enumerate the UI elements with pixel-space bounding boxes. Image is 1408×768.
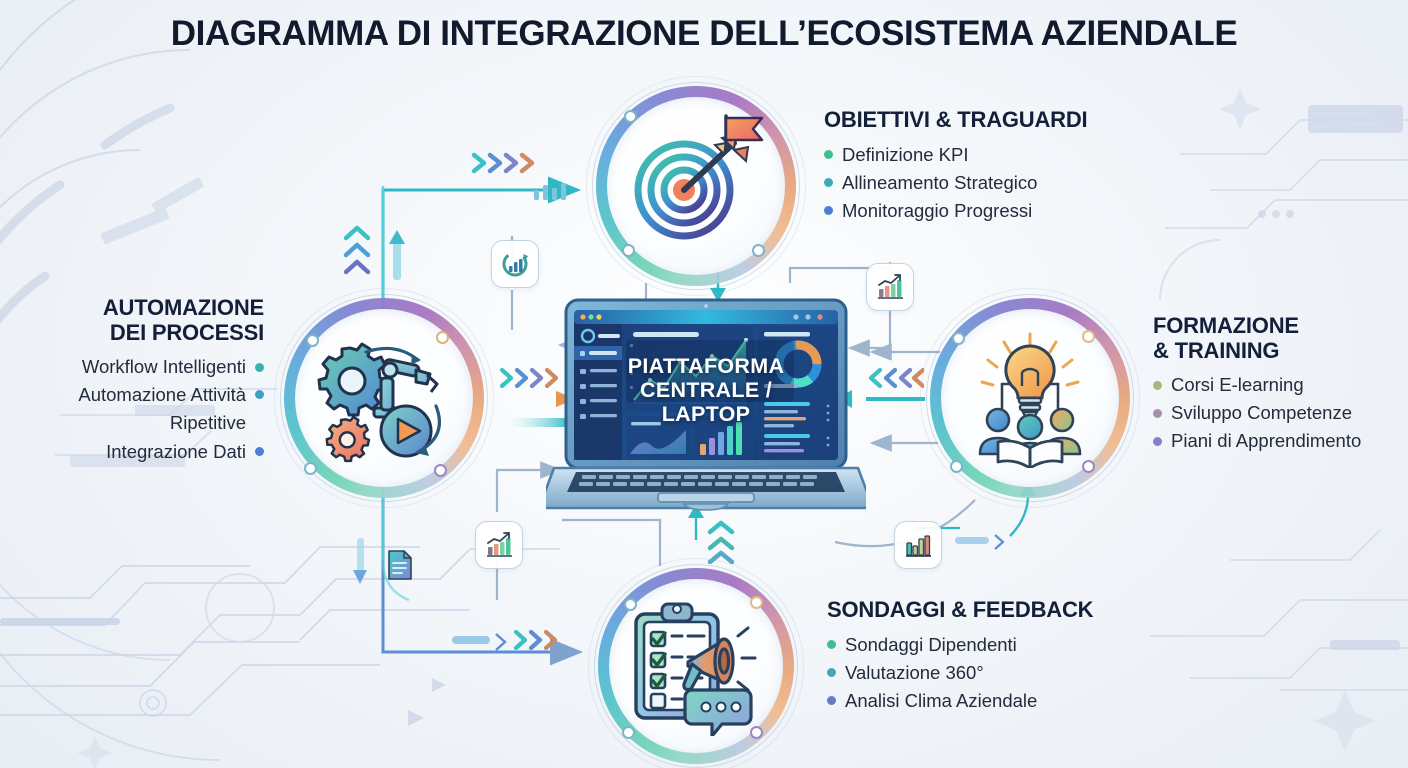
bullet-list-automazione: Workflow Intelligenti Automazione Attivi… [24, 353, 264, 465]
infographic-canvas: DIAGRAMMA DI INTEGRAZIONE DELL’ECOSISTEM… [0, 0, 1408, 768]
bullet-label: Valutazione 360° [845, 659, 984, 687]
list-item: Sviluppo Competenze [1153, 399, 1361, 427]
node-automazione[interactable] [284, 298, 484, 498]
text-block-formazione: FORMAZIONE & TRAINING Corsi E-learning S… [1153, 314, 1361, 456]
bullet-dot [824, 206, 833, 215]
bullet-label: Definizione KPI [842, 141, 968, 169]
bullet-label: Sondaggi Dipendenti [845, 631, 1017, 659]
node-formazione[interactable] [930, 298, 1130, 498]
bullet-list-sondaggi: Sondaggi Dipendenti Valutazione 360° Ana… [827, 631, 1093, 715]
heading-line-1: AUTOMAZIONE [103, 295, 264, 320]
bullet-label: Workflow Intelligenti [82, 353, 246, 381]
badge-bar-chart-right[interactable] [894, 521, 942, 569]
chevrons-right-center [868, 366, 924, 390]
document-icon [387, 549, 413, 581]
lightbulb-people-book-icon [960, 328, 1100, 468]
list-item: Corsi E-learning [1153, 371, 1361, 399]
bullet-dot [827, 640, 836, 649]
vertical-arrow-down [353, 538, 367, 584]
heading-automazione: AUTOMAZIONE DEI PROCESSI [24, 296, 264, 345]
badge-refresh-analytics[interactable] [491, 240, 539, 288]
list-item: Monitoraggio Progressi [824, 197, 1087, 225]
chevrons-up-bottom-center [706, 518, 736, 564]
circuit-traces-bottomleft [0, 547, 560, 715]
list-item: Definizione KPI [824, 141, 1087, 169]
bullet-label: Automazione Attività Ripetitive [24, 381, 246, 437]
node-sondaggi[interactable] [598, 568, 794, 764]
bullet-dot [1153, 437, 1162, 446]
bullet-dot [1153, 381, 1162, 390]
target-arrow-flag-icon [622, 112, 770, 260]
list-item: Workflow Intelligenti [24, 353, 264, 381]
bullet-label: Piani di Apprendimento [1171, 427, 1361, 455]
bullet-dot [827, 696, 836, 705]
badge-growth-chart-left[interactable] [475, 521, 523, 569]
chevrons-top-left [470, 150, 542, 176]
bar-chart-trend-icon [875, 272, 905, 302]
bullet-dot [824, 178, 833, 187]
bullet-label: Sviluppo Competenze [1171, 399, 1352, 427]
heading-line-2: & TRAINING [1153, 338, 1279, 363]
text-block-obiettivi: OBIETTIVI & TRAGUARDI Definizione KPI Al… [824, 108, 1087, 225]
gears-robot-arm-play-icon [312, 326, 456, 470]
badge-growth-chart-top[interactable] [866, 263, 914, 311]
heading-sondaggi: SONDAGGI & FEEDBACK [827, 598, 1093, 623]
bullet-label: Integrazione Dati [106, 438, 246, 466]
heading-obiettivi: OBIETTIVI & TRAGUARDI [824, 108, 1087, 133]
bullet-label: Corsi E-learning [1171, 371, 1304, 399]
bullet-dot [827, 668, 836, 677]
text-block-automazione: AUTOMAZIONE DEI PROCESSI Workflow Intell… [24, 296, 264, 466]
list-item: Integrazione Dati [24, 438, 264, 466]
list-item: Allineamento Strategico [824, 169, 1087, 197]
bullet-list-formazione: Corsi E-learning Sviluppo Competenze Pia… [1153, 371, 1361, 455]
list-item: Piani di Apprendimento [1153, 427, 1361, 455]
node-obiettivi[interactable] [596, 86, 796, 286]
chevrons-bottom-left-flow [512, 628, 560, 652]
chevrons-up-left [342, 222, 372, 282]
heading-line-1: FORMAZIONE [1153, 313, 1299, 338]
bullet-dot [255, 447, 264, 456]
clipboard-megaphone-chat-icon [626, 596, 766, 736]
heading-formazione: FORMAZIONE & TRAINING [1153, 314, 1361, 363]
text-block-sondaggi: SONDAGGI & FEEDBACK Sondaggi Dipendenti … [827, 598, 1093, 715]
heading-line-2: DEI PROCESSI [110, 320, 264, 345]
list-item: Valutazione 360° [827, 659, 1093, 687]
list-item: Automazione Attività Ripetitive [24, 381, 264, 437]
vertical-arrow-up [389, 230, 405, 280]
bullet-label: Allineamento Strategico [842, 169, 1037, 197]
badge-document[interactable] [386, 548, 414, 582]
central-platform-laptop[interactable]: PIATTAFORMA CENTRALE / LAPTOP [546, 296, 866, 524]
list-item: Sondaggi Dipendenti [827, 631, 1093, 659]
bullet-dot [824, 150, 833, 159]
bullet-dot [255, 390, 264, 399]
bullet-label: Analisi Clima Aziendale [845, 687, 1037, 715]
bullet-label: Monitoraggio Progressi [842, 197, 1032, 225]
bullet-dot [1153, 409, 1162, 418]
list-item: Analisi Clima Aziendale [827, 687, 1093, 715]
page-title: DIAGRAMMA DI INTEGRAZIONE DELL’ECOSISTEM… [0, 14, 1408, 54]
bullet-list-obiettivi: Definizione KPI Allineamento Strategico … [824, 141, 1087, 225]
bullet-dot [255, 363, 264, 372]
bar-chart-trend-icon [484, 530, 514, 560]
bar-chart-icon [903, 530, 933, 560]
refresh-bar-chart-icon [500, 249, 530, 279]
